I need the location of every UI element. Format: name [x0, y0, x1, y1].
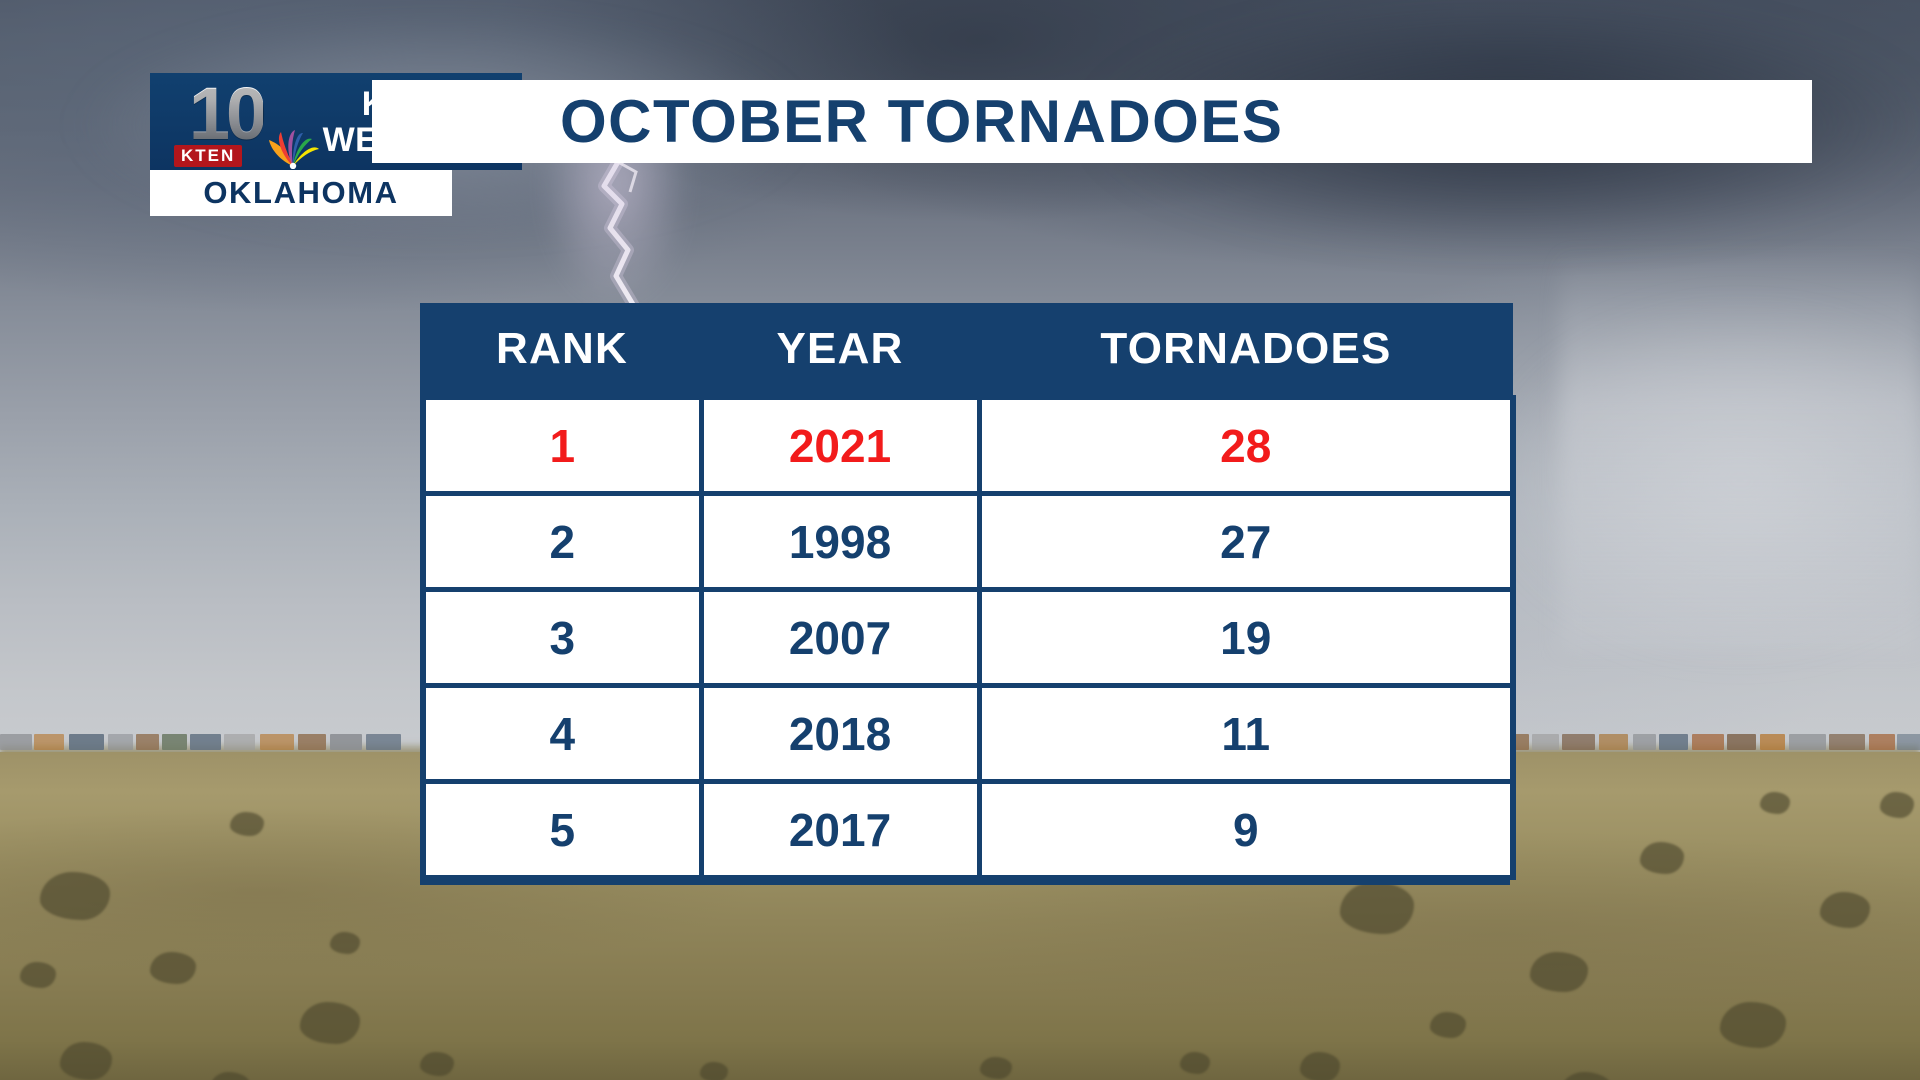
cell-rank: 1 [423, 398, 701, 494]
train-car [1532, 734, 1559, 750]
cell-year: 2007 [701, 590, 979, 686]
logo-region-label: OKLAHOMA [203, 175, 398, 211]
cell-year: 1998 [701, 494, 979, 590]
train-car [0, 734, 32, 750]
rank-table: RANK YEAR TORNADOES 12021282199827320071… [420, 303, 1516, 880]
scrub-bush [1760, 792, 1790, 814]
scrub-bush [700, 1062, 728, 1080]
train-car [34, 734, 64, 750]
cell-tornadoes: 27 [979, 494, 1513, 590]
page-title: OCTOBER TORNADOES [560, 87, 1283, 156]
nbc-peacock-icon [262, 129, 324, 169]
scrub-bush [60, 1042, 112, 1080]
table-row: 4201811 [423, 686, 1513, 782]
scrub-bush [1180, 1052, 1210, 1074]
scrub-bush [1880, 792, 1914, 818]
scrub-bush [1820, 892, 1870, 928]
scrub-bush [20, 962, 56, 988]
scrub-bush [1530, 952, 1588, 992]
scrub-bush [40, 872, 110, 920]
scrub-bush [330, 932, 360, 954]
rain-shaft [1560, 250, 1920, 650]
cell-tornadoes: 19 [979, 590, 1513, 686]
scrub-bush [980, 1057, 1012, 1079]
train-car [298, 734, 326, 750]
cell-rank: 2 [423, 494, 701, 590]
cell-year: 2017 [701, 782, 979, 878]
weather-graphic: 10 KTEN [0, 0, 1920, 1080]
train-car [1789, 734, 1826, 750]
scrub-bush [210, 1072, 250, 1080]
cell-rank: 3 [423, 590, 701, 686]
train-car [69, 734, 104, 750]
scrub-bush [1430, 1012, 1466, 1038]
train-car [1562, 734, 1595, 750]
train-car [1599, 734, 1628, 750]
column-header-year: YEAR [701, 303, 979, 398]
cell-tornadoes: 28 [979, 398, 1513, 494]
cell-tornadoes: 9 [979, 782, 1513, 878]
train-car [136, 734, 159, 750]
channel-number-block: 10 KTEN [150, 73, 302, 170]
cell-year: 2021 [701, 398, 979, 494]
cell-year: 2018 [701, 686, 979, 782]
train-car [1869, 734, 1895, 750]
train-car [1692, 734, 1724, 750]
train-car [162, 734, 187, 750]
scrub-bush [150, 952, 196, 984]
cell-rank: 5 [423, 782, 701, 878]
column-header-tornadoes: TORNADOES [979, 303, 1513, 398]
scrub-bush [1560, 1072, 1612, 1080]
train-car [260, 734, 294, 750]
table-row: 3200719 [423, 590, 1513, 686]
logo-region-band: OKLAHOMA [150, 170, 452, 216]
table-row: 1202128 [423, 398, 1513, 494]
cell-rank: 4 [423, 686, 701, 782]
scrub-bush [420, 1052, 454, 1076]
train-car [1829, 734, 1865, 750]
scrub-bush [300, 1002, 360, 1044]
train-car [1760, 734, 1785, 750]
scrub-bush [1340, 882, 1414, 934]
train-car [1633, 734, 1656, 750]
train-car [330, 734, 362, 750]
train-car [1727, 734, 1756, 750]
channel-number: 10 [189, 77, 263, 151]
train-car [1897, 734, 1920, 750]
kten-badge: KTEN [174, 145, 242, 167]
cell-tornadoes: 11 [979, 686, 1513, 782]
scrub-bush [1300, 1052, 1340, 1080]
train-car [108, 734, 133, 750]
train-car [366, 734, 401, 750]
scrub-bush [1640, 842, 1684, 874]
column-header-rank: RANK [423, 303, 701, 398]
table-row: 2199827 [423, 494, 1513, 590]
scrub-bush [230, 812, 264, 836]
train-car [190, 734, 221, 750]
table-row: 520179 [423, 782, 1513, 878]
scrub-bush [1720, 1002, 1786, 1048]
rank-table-container: RANK YEAR TORNADOES 12021282199827320071… [420, 303, 1510, 885]
title-bar: OCTOBER TORNADOES [372, 80, 1812, 163]
train-car [1659, 734, 1688, 750]
train-car [224, 734, 255, 750]
table-header-row: RANK YEAR TORNADOES [423, 303, 1513, 398]
